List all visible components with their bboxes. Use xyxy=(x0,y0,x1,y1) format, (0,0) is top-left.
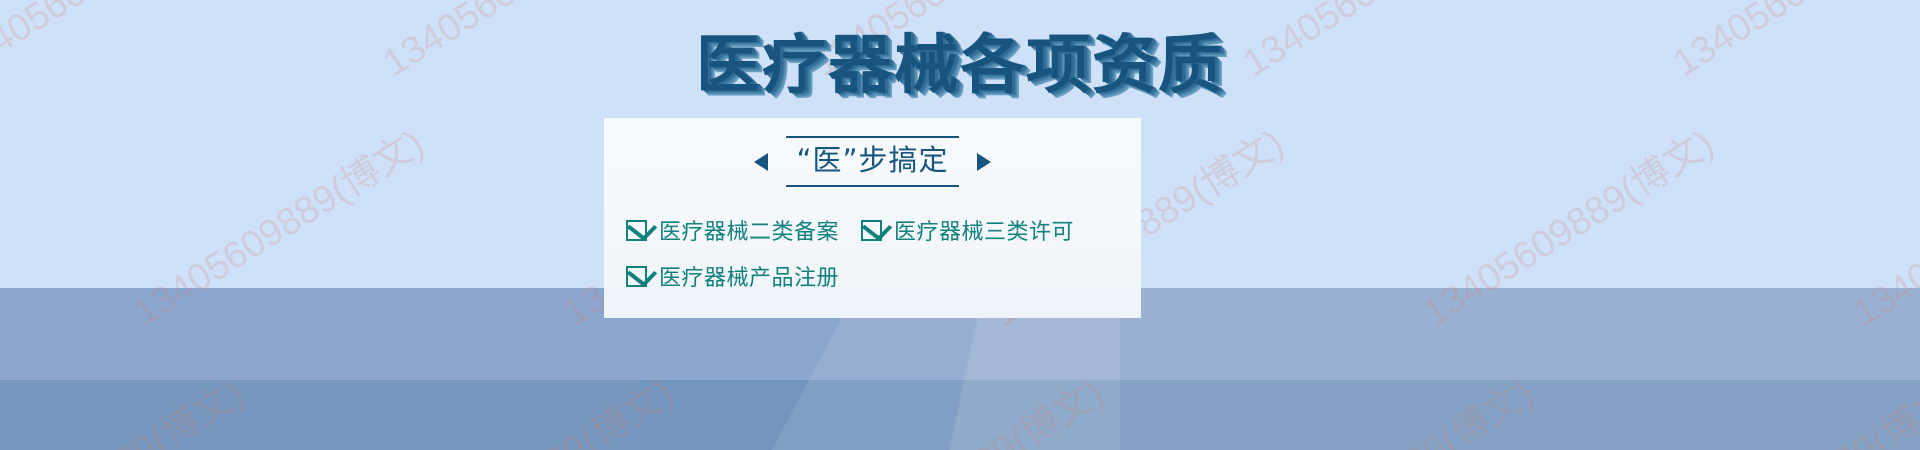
list-item[interactable]: 医疗器械产品注册 xyxy=(626,260,839,292)
list-row: 医疗器械二类备案医疗器械三类许可 xyxy=(626,214,1141,246)
list-item-label: 医疗器械三类许可 xyxy=(894,214,1074,246)
list-item[interactable]: 医疗器械二类备案 xyxy=(626,214,839,246)
checked-checkbox-icon[interactable] xyxy=(861,220,882,241)
page-title: 医疗器械各项资质 xyxy=(0,34,1920,98)
subtitle-box: “医”步搞定 xyxy=(786,136,958,187)
checked-checkbox-icon[interactable] xyxy=(626,220,647,241)
list-item-label: 医疗器械产品注册 xyxy=(659,260,839,292)
list-item[interactable]: 医疗器械三类许可 xyxy=(861,214,1074,246)
content-card: “医”步搞定 医疗器械二类备案医疗器械三类许可医疗器械产品注册 xyxy=(604,118,1141,318)
list-item-label: 医疗器械二类备案 xyxy=(659,214,839,246)
list-row: 医疗器械产品注册 xyxy=(626,260,1141,292)
subtitle-row: “医”步搞定 xyxy=(604,136,1141,187)
left-triangle-icon xyxy=(754,153,768,171)
right-triangle-icon xyxy=(977,153,991,171)
background-band-low xyxy=(0,380,1920,450)
checked-checkbox-icon[interactable] xyxy=(626,266,647,287)
promo-banner: 13405609889(博文)13405609889(博文)1340560988… xyxy=(0,0,1920,450)
qualification-list: 医疗器械二类备案医疗器械三类许可医疗器械产品注册 xyxy=(604,214,1141,306)
subtitle-text: “医”步搞定 xyxy=(796,143,948,177)
